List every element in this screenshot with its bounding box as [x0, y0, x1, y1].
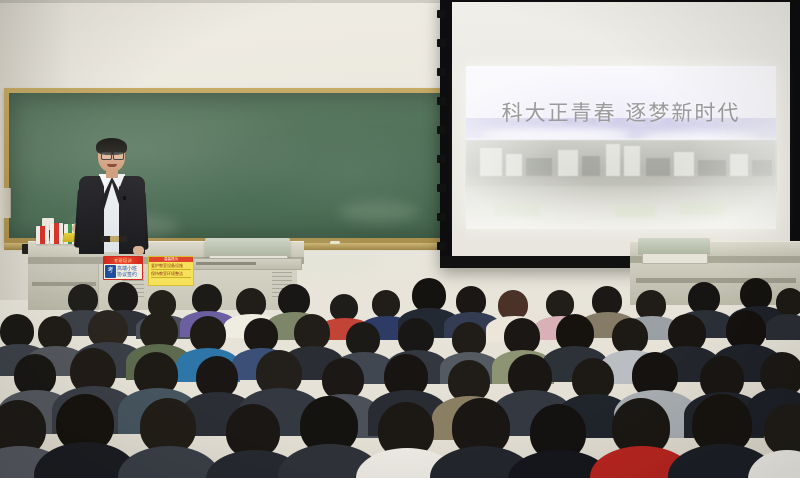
presenter-right-hand: [133, 246, 144, 255]
chalk-box-red: [36, 226, 49, 244]
chalk-smudge: [339, 201, 419, 223]
presenter-smile: [107, 164, 117, 167]
screen-tension-hook: [437, 184, 446, 192]
red-sticker-header: 考研培训: [104, 257, 142, 264]
ceiling-trim-line: [0, 0, 460, 3]
eyeglasses-icon: [113, 152, 124, 160]
student-audience: T.ME ▄▄▄ ▄▄▄ ▄▄▄▄ ▄▄▄▄ ▄▄▄▄▄ ▄▄ ▄▄▄▄ ▄ ▄…: [0, 268, 800, 478]
screen-tension-hook: [437, 213, 446, 221]
slide-title: 科大正青春 逐梦新时代: [466, 96, 776, 128]
belt-buckle: [110, 236, 119, 242]
screen-tension-hook: [437, 126, 446, 134]
slide-vignette: [466, 66, 776, 229]
keyboard-tray-right[interactable]: [642, 253, 708, 264]
lapel-microphone-icon: [123, 196, 126, 200]
eyeglasses-bridge: [110, 154, 114, 155]
wall-fixture-left: [0, 188, 11, 218]
drawer-handle[interactable]: [196, 262, 256, 265]
screen-tension-hook: [437, 10, 446, 18]
chalk-box-red: [50, 223, 63, 244]
screen-tension-hook: [437, 155, 446, 163]
screen-tension-hook: [437, 97, 446, 105]
screen-tension-hook: [437, 39, 446, 47]
screen-tension-hook: [437, 68, 446, 76]
chalk-stick: [330, 241, 340, 244]
screen-tension-hook: [437, 242, 446, 250]
lecture-hall-photo: 科大正青春 逐梦新时代 考研培训 考 高端小班 协议签约 温馨提示 爱护教室设备…: [0, 0, 800, 478]
screen-tension-hooks: [437, 4, 446, 262]
